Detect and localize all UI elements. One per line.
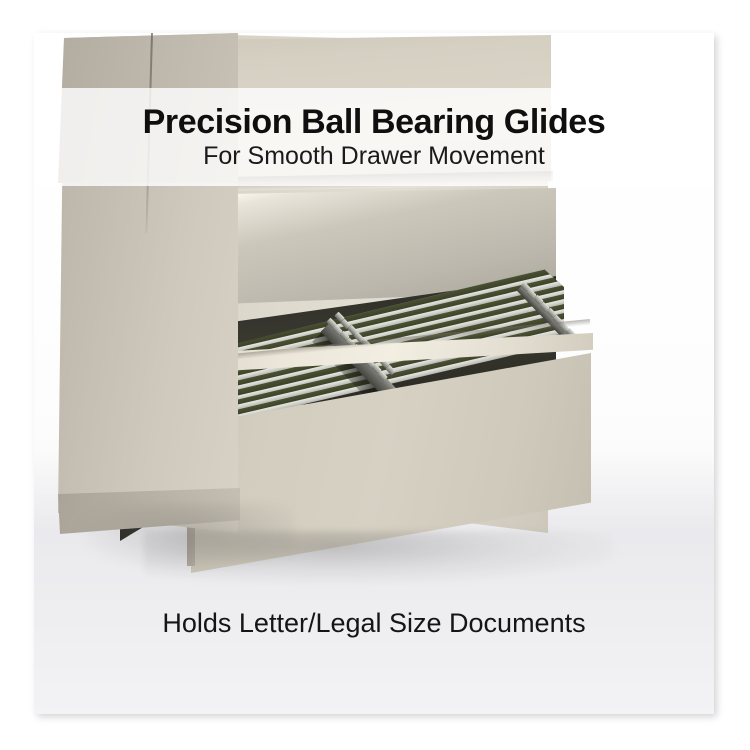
bottom-caption-text: Holds Letter/Legal Size Documents [34, 608, 714, 639]
subheadline-text: For Smooth Drawer Movement [203, 143, 545, 169]
headline-banner: Precision Ball Bearing Glides For Smooth… [34, 88, 714, 186]
product-photo: Precision Ball Bearing Glides For Smooth… [34, 33, 714, 714]
image-canvas: Precision Ball Bearing Glides For Smooth… [34, 33, 714, 714]
cabinet-floor-shadow-left [74, 503, 294, 573]
product-image-frame: Precision Ball Bearing Glides For Smooth… [0, 0, 750, 750]
headline-text: Precision Ball Bearing Glides [143, 105, 606, 140]
